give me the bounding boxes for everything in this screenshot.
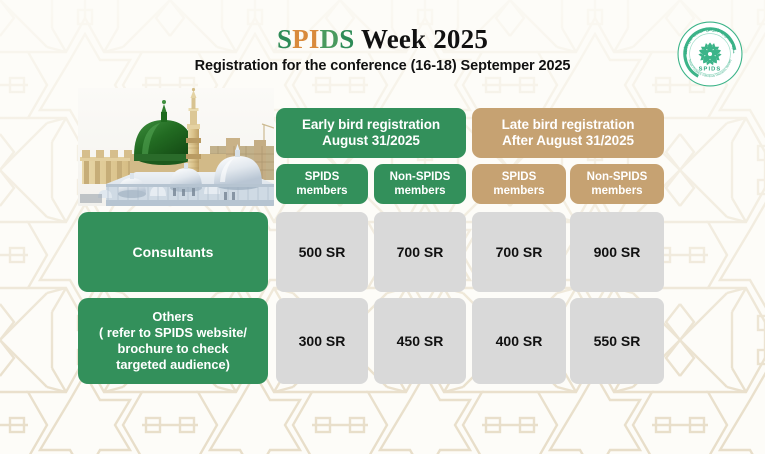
page-title: SPIDS Week 2025 [0,26,765,53]
brand-letter-i: I [309,24,320,54]
brand-letter-s2: S [339,24,354,54]
subheader-early-nonspids-members: Non-SPIDS members [374,164,466,204]
price-others-late-spids: 400 SR [472,298,566,384]
row-label-others: Others ( refer to SPIDS website/ brochur… [78,298,268,384]
brand-letter-s1: S [277,24,292,54]
spids-logo: الجمعية السعودية لأمراض المعدية لدى الأط… [676,20,744,88]
row-label-others-line1: Others [99,309,247,325]
subheader-early-nonspids-line1: Non-SPIDS [390,170,451,184]
subheader-early-spids-members: SPIDS members [276,164,368,204]
row-label-consultants-text: Consultants [133,244,214,260]
price-others-early-spids: 300 SR [276,298,368,384]
column-group-early-bird: Early bird registration August 31/2025 [276,108,466,158]
subheader-late-nonspids-line1: Non-SPIDS [587,170,648,184]
price-others-late-nonspids: 550 SR [570,298,664,384]
price-value: 700 SR [496,244,543,260]
prophets-mosque-image [78,88,274,206]
price-consultants-early-spids: 500 SR [276,212,368,292]
price-others-early-nonspids: 450 SR [374,298,466,384]
subheader-late-nonspids-members: Non-SPIDS members [570,164,664,204]
row-label-others-line4: targeted audience) [99,357,247,373]
subheader-early-spids-line1: SPIDS [296,170,347,184]
brand-letter-p: P [292,24,309,54]
title-rest: Week 2025 [355,24,489,54]
early-bird-line2: August 31/2025 [302,133,440,149]
page-subtitle: Registration for the conference (16-18) … [0,58,765,74]
late-bird-line1: Late bird registration [502,117,635,133]
row-label-consultants: Consultants [78,212,268,292]
row-label-others-line2: ( refer to SPIDS website/ [99,325,247,341]
subheader-late-spids-line2: members [493,184,544,198]
logo-acronym: SPIDS [699,66,722,72]
price-value: 900 SR [594,244,641,260]
late-bird-line2: After August 31/2025 [502,133,635,149]
subheader-late-spids-line1: SPIDS [493,170,544,184]
subheader-early-spids-line2: members [296,184,347,198]
price-consultants-early-nonspids: 700 SR [374,212,466,292]
row-label-others-line3: brochure to check [99,341,247,357]
subheader-late-nonspids-line2: members [587,184,648,198]
early-bird-line1: Early bird registration [302,117,440,133]
price-value: 450 SR [397,333,444,349]
price-value: 550 SR [594,333,641,349]
column-group-late-bird: Late bird registration After August 31/2… [472,108,664,158]
price-consultants-late-spids: 700 SR [472,212,566,292]
brand-letter-d: D [320,24,340,54]
price-value: 700 SR [397,244,444,260]
price-value: 500 SR [299,244,346,260]
subheader-late-spids-members: SPIDS members [472,164,566,204]
price-value: 300 SR [299,333,346,349]
price-consultants-late-nonspids: 900 SR [570,212,664,292]
subheader-early-nonspids-line2: members [390,184,451,198]
price-value: 400 SR [496,333,543,349]
